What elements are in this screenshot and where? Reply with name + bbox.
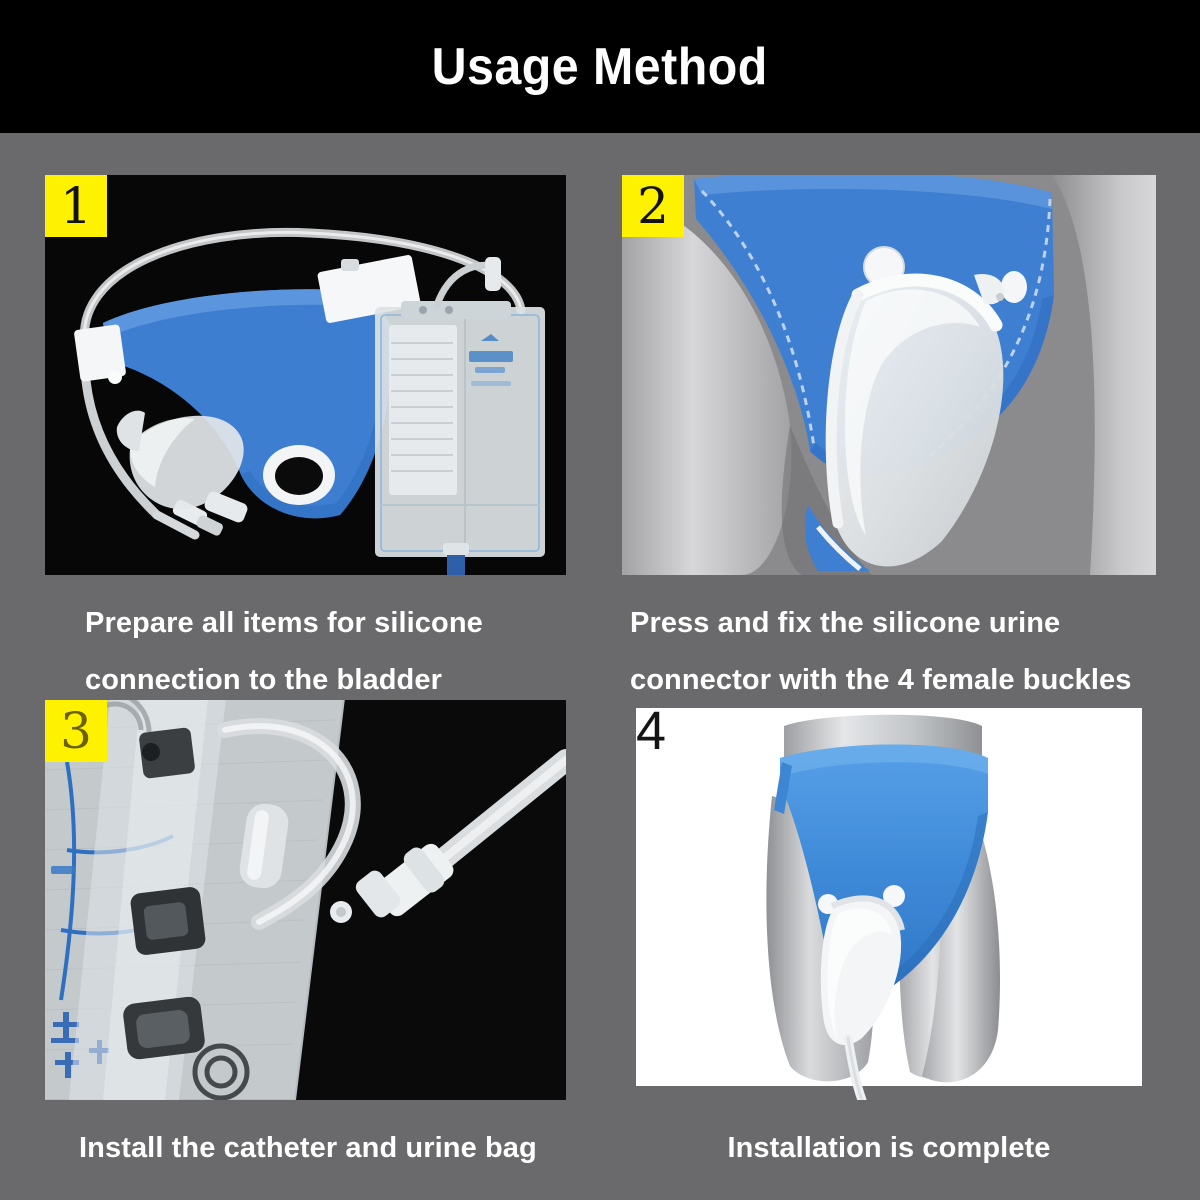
step-2-caption-line-1: Press and fix the silicone urine — [630, 595, 1156, 652]
step-3-caption-line-1: Install the catheter and urine bag — [79, 1120, 566, 1177]
page-header: Usage Method — [0, 0, 1200, 133]
page-title: Usage Method — [432, 41, 768, 93]
step-1-caption-line-1: Prepare all items for silicone — [85, 595, 566, 652]
step-3-badge: 3 — [45, 700, 107, 762]
step-3: 3 Install the catheter and urine bag — [45, 700, 566, 1177]
step-4-caption: Installation is complete — [622, 1120, 1156, 1177]
steps-grid: 1 Prepare all items for silicone connect… — [0, 133, 1200, 1200]
step-4-badge: 4 — [622, 700, 712, 762]
catheter-bag-connection-illustration — [45, 700, 566, 1100]
step-1-photo: 1 — [45, 175, 566, 575]
step-2: 2 Press and fix the silicone urine conne… — [622, 175, 1156, 708]
step-4: 4 Installation is complete — [622, 700, 1156, 1177]
step-2-caption: Press and fix the silicone urine connect… — [622, 595, 1156, 708]
brief-connector-closeup-illustration — [622, 175, 1156, 575]
step-1-badge: 1 — [45, 175, 107, 237]
step-1: 1 Prepare all items for silicone connect… — [45, 175, 566, 708]
step-4-photo: 4 — [622, 700, 1156, 1100]
usage-method-infographic: Usage Method — [0, 0, 1200, 1200]
step-1-caption: Prepare all items for silicone connectio… — [45, 595, 566, 708]
step-3-caption: Install the catheter and urine bag — [45, 1120, 566, 1177]
step-2-badge: 2 — [622, 175, 684, 237]
step-4-caption-line-1: Installation is complete — [622, 1120, 1156, 1177]
kit-flatlay-illustration — [45, 175, 566, 575]
step-2-photo: 2 — [622, 175, 1156, 575]
step-3-photo: 3 — [45, 700, 566, 1100]
